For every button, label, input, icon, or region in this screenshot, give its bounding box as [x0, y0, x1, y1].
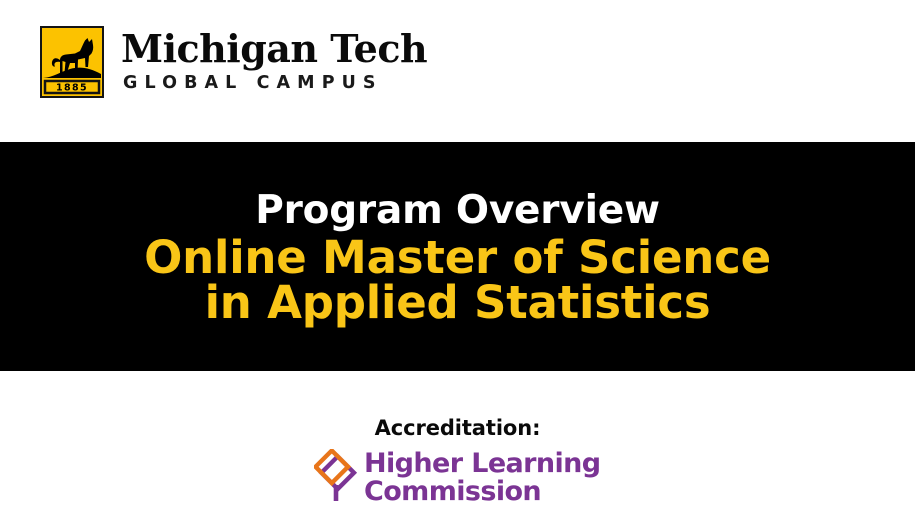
michigan-tech-husky-shield-icon: 1885 — [40, 26, 104, 98]
program-name-line-2: in Applied Statistics — [205, 280, 711, 325]
brand-name: Michigan Tech — [121, 28, 427, 70]
higher-learning-commission-diamond-icon — [314, 449, 358, 503]
hlc-wordmark: Higher Learning Commission — [364, 450, 601, 506]
higher-learning-commission-logo: Higher Learning Commission — [314, 449, 601, 506]
page-header: 1885 Michigan Tech GLOBAL CAMPUS — [0, 0, 915, 142]
accreditation-label: Accreditation: — [0, 415, 915, 441]
brand-wordmark: Michigan Tech GLOBAL CAMPUS — [121, 26, 427, 94]
hlc-name-line-2: Commission — [364, 478, 601, 506]
shield-year-text: 1885 — [56, 82, 88, 93]
title-banner: Program Overview Online Master of Scienc… — [0, 142, 915, 371]
hlc-name-line-1: Higher Learning — [364, 450, 601, 478]
accreditation-section: Accreditation: Higher Learning Commissio… — [0, 371, 915, 513]
page-title: Program Overview — [255, 189, 660, 233]
program-name-line-1: Online Master of Science — [144, 235, 771, 280]
michigan-tech-global-campus-logo: 1885 Michigan Tech GLOBAL CAMPUS — [40, 26, 427, 98]
brand-subtitle: GLOBAL CAMPUS — [123, 72, 427, 94]
